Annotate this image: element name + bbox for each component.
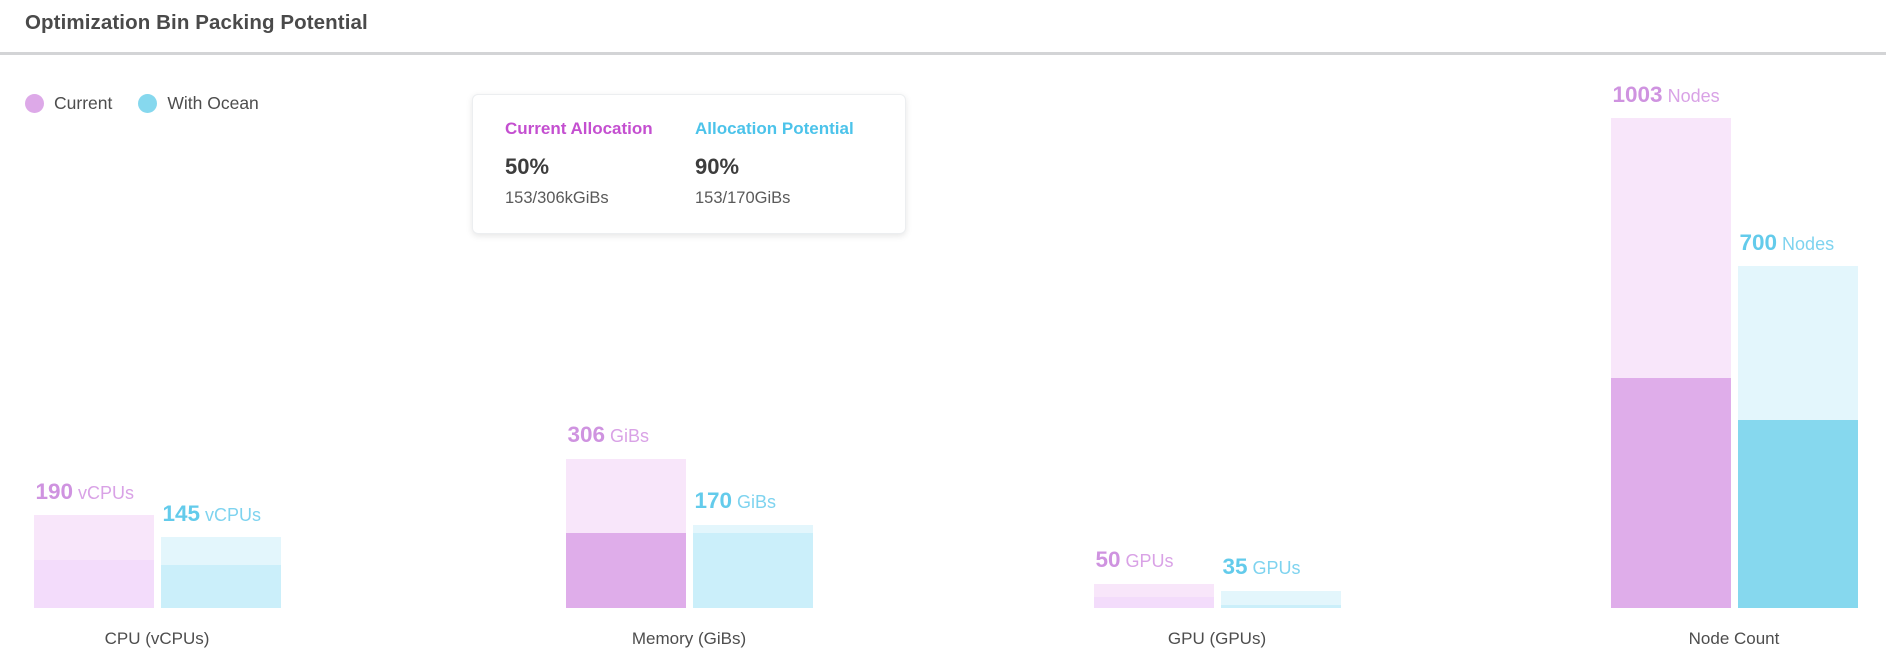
bar-value-number: 145 bbox=[163, 501, 201, 526]
bar-segment-allocated bbox=[1221, 605, 1341, 608]
bar-value-label: 306 GiBs bbox=[568, 424, 650, 447]
bar-memory-gibs-with-ocean[interactable] bbox=[693, 525, 813, 608]
bar-segment-unused bbox=[1221, 591, 1341, 605]
bar-segment-unused bbox=[1611, 118, 1731, 378]
bar-value-unit: GiBs bbox=[732, 492, 776, 512]
bar-cpu-vcpus-with-ocean[interactable] bbox=[161, 537, 281, 608]
bar-segment-allocated bbox=[161, 565, 281, 608]
bar-segment-unused bbox=[566, 459, 686, 533]
bar-memory-gibs-current[interactable] bbox=[566, 459, 686, 608]
bar-value-label: 190 vCPUs bbox=[36, 481, 135, 504]
bar-value-unit: vCPUs bbox=[73, 483, 134, 503]
bar-value-label: 170 GiBs bbox=[695, 490, 777, 513]
bar-segment-unused bbox=[1094, 584, 1214, 597]
x-axis-label-gpu-gpus: GPU (GPUs) bbox=[1168, 629, 1266, 649]
bar-value-label: 50 GPUs bbox=[1096, 549, 1174, 572]
bar-value-label: 145 vCPUs bbox=[163, 503, 262, 526]
bar-segment-allocated bbox=[1094, 597, 1214, 608]
bar-value-unit: Nodes bbox=[1777, 234, 1834, 254]
bar-value-number: 306 bbox=[568, 422, 606, 447]
bar-segment-allocated bbox=[1738, 420, 1858, 608]
bar-gpu-gpus-current[interactable] bbox=[1094, 584, 1214, 608]
bar-value-number: 700 bbox=[1740, 230, 1778, 255]
bar-value-unit: Nodes bbox=[1663, 86, 1720, 106]
bar-value-number: 35 bbox=[1223, 554, 1248, 579]
bar-segment-allocated bbox=[34, 560, 154, 608]
bar-segment-unused bbox=[693, 525, 813, 533]
bar-segment-unused bbox=[161, 537, 281, 565]
bar-segment-unused bbox=[34, 515, 154, 560]
x-axis-label-node-count: Node Count bbox=[1689, 629, 1780, 649]
bar-value-label: 1003 Nodes bbox=[1613, 84, 1720, 107]
bar-gpu-gpus-with-ocean[interactable] bbox=[1221, 591, 1341, 608]
bar-cpu-vcpus-current[interactable] bbox=[34, 515, 154, 608]
bar-value-unit: vCPUs bbox=[200, 505, 261, 525]
x-axis-label-memory-gibs: Memory (GiBs) bbox=[632, 629, 746, 649]
bar-value-unit: GiBs bbox=[605, 426, 649, 446]
bar-value-number: 50 bbox=[1096, 547, 1121, 572]
bar-segment-allocated bbox=[693, 533, 813, 608]
bar-segment-allocated bbox=[1611, 378, 1731, 608]
bar-node-count-current[interactable] bbox=[1611, 118, 1731, 608]
bar-value-label: 700 Nodes bbox=[1740, 232, 1835, 255]
bar-chart-plot-area: 190 vCPUs145 vCPUsCPU (vCPUs)306 GiBs170… bbox=[0, 0, 1886, 666]
bar-value-number: 170 bbox=[695, 488, 733, 513]
bar-value-unit: GPUs bbox=[1248, 558, 1301, 578]
bar-node-count-with-ocean[interactable] bbox=[1738, 266, 1858, 608]
x-axis-label-cpu-vcpus: CPU (vCPUs) bbox=[105, 629, 210, 649]
bar-segment-allocated bbox=[566, 533, 686, 608]
bar-value-unit: GPUs bbox=[1121, 551, 1174, 571]
bar-value-label: 35 GPUs bbox=[1223, 556, 1301, 579]
bar-segment-unused bbox=[1738, 266, 1858, 420]
bar-value-number: 190 bbox=[36, 479, 74, 504]
bar-value-number: 1003 bbox=[1613, 82, 1663, 107]
